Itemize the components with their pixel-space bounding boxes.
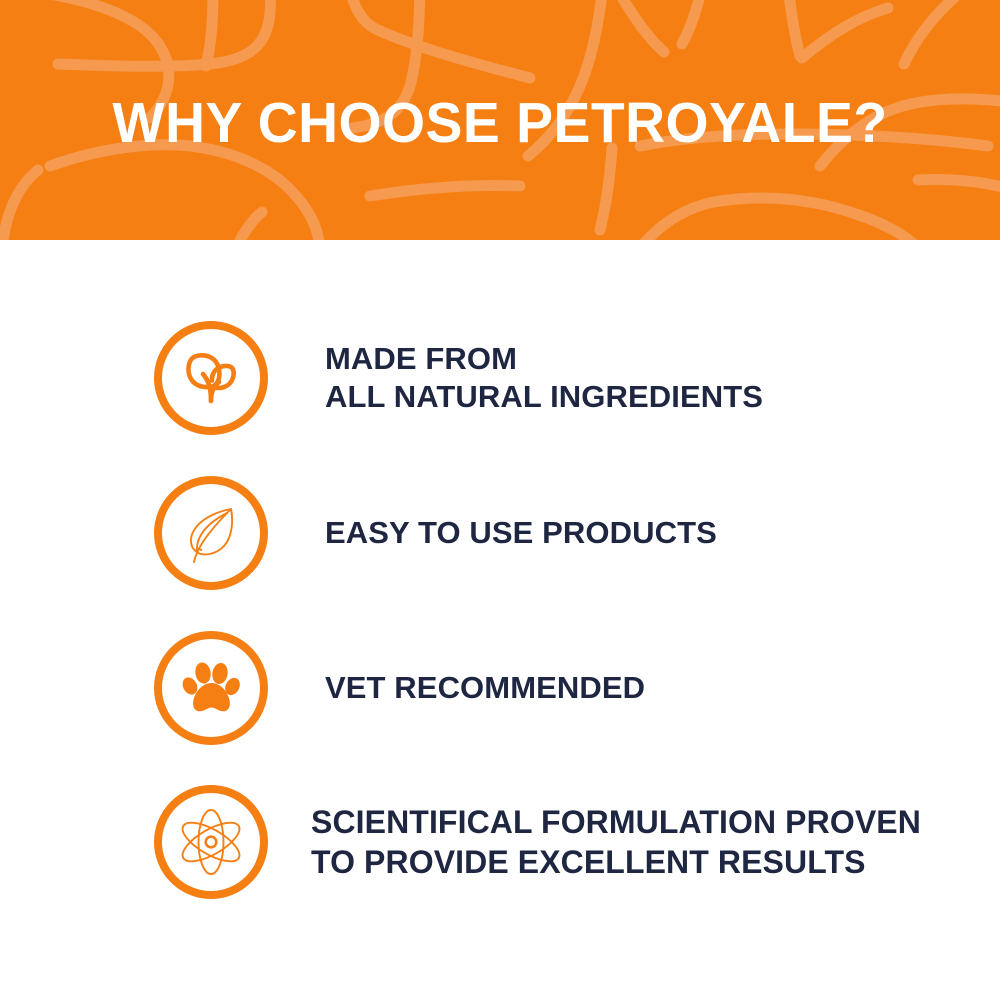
- feature-item-scientific-formulation: SCIENTIFICAL FORMULATION PROVEN TO PROVI…: [154, 785, 954, 899]
- icon-badge-scientific-formulation: [154, 785, 268, 899]
- feature-label-natural-ingredients: MADE FROM ALL NATURAL INGREDIENTS: [325, 340, 954, 416]
- feature-label-scientific-formulation: SCIENTIFICAL FORMULATION PROVEN TO PROVI…: [311, 802, 954, 882]
- leaf-icon: [178, 500, 244, 566]
- sprout-icon: [178, 345, 244, 411]
- icon-badge-natural-ingredients: [154, 321, 268, 435]
- icon-badge-easy-to-use: [154, 476, 268, 590]
- feature-item-easy-to-use: EASY TO USE PRODUCTS: [154, 476, 954, 590]
- feature-label-vet-recommended: VET RECOMMENDED: [325, 669, 954, 707]
- header-band: WHY CHOOSE PETROYALE?: [0, 0, 1000, 240]
- why-choose-petroyale-poster: WHY CHOOSE PETROYALE? MADE FROM ALL NATU…: [0, 0, 1000, 1000]
- feature-item-natural-ingredients: MADE FROM ALL NATURAL INGREDIENTS: [154, 321, 954, 435]
- page-title: WHY CHOOSE PETROYALE?: [15, 88, 985, 158]
- atom-icon: [176, 807, 246, 877]
- feature-label-easy-to-use: EASY TO USE PRODUCTS: [325, 514, 954, 552]
- paw-print-icon: [179, 656, 243, 720]
- feature-item-vet-recommended: VET RECOMMENDED: [154, 631, 954, 745]
- icon-badge-vet-recommended: [154, 631, 268, 745]
- feature-list: MADE FROM ALL NATURAL INGREDIENTS EASY T…: [0, 240, 1000, 1000]
